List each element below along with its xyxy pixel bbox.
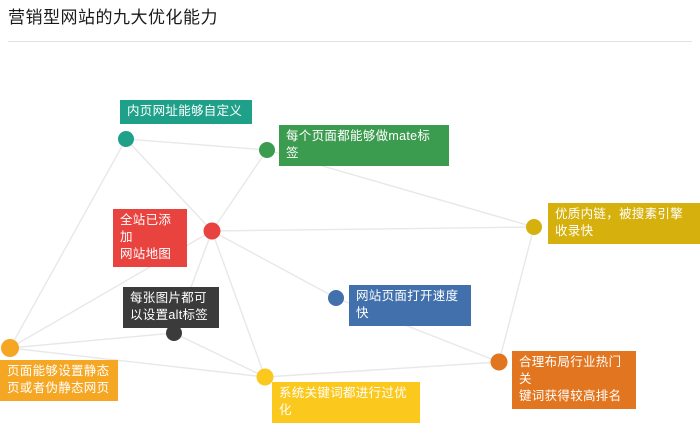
graph-edge <box>499 227 534 362</box>
graph-node-mate-tag[interactable] <box>259 142 275 158</box>
graph-node-sitemap[interactable] <box>204 223 221 240</box>
graph-edge <box>212 231 336 298</box>
title-divider <box>8 41 692 42</box>
graph-edge <box>265 362 499 377</box>
graph-node-label-alt-tag: 每张图片都可 以设置alt标签 <box>123 287 219 328</box>
graph-node-label-mate-tag: 每个页面都能够做mate标签 <box>279 125 449 166</box>
graph-edge <box>126 139 267 150</box>
page-title: 营销型网站的九大优化能力 <box>8 7 218 29</box>
graph-node-keyword-opt[interactable] <box>257 369 274 386</box>
graph-node-label-static-page: 页面能够设置静态 页或者伪静态网页 <box>0 360 118 401</box>
graph-edge <box>10 333 174 348</box>
graph-edge <box>212 150 267 231</box>
graph-edge <box>10 139 126 348</box>
graph-node-static-page[interactable] <box>1 339 19 357</box>
graph-node-label-inner-link: 优质内链，被搜素引擎收录快 <box>548 203 700 244</box>
graph-edge <box>212 227 534 231</box>
graph-node-label-keyword-opt: 系统关键词都进行过优化 <box>272 382 420 423</box>
graph-node-label-page-speed: 网站页面打开速度快 <box>349 285 471 326</box>
graph-node-page-speed[interactable] <box>328 290 344 306</box>
graph-node-inner-url[interactable] <box>118 131 134 147</box>
graph-node-inner-link[interactable] <box>526 219 542 235</box>
network-graph: 内页网址能够自定义每个页面都能够做mate标签全站已添加 网站地图优质内链，被搜… <box>0 48 700 447</box>
graph-node-label-inner-url: 内页网址能够自定义 <box>120 100 252 124</box>
graph-node-hot-keyword[interactable] <box>491 354 508 371</box>
graph-node-label-sitemap: 全站已添加 网站地图 <box>113 209 187 267</box>
graph-node-label-hot-keyword: 合理布局行业热门关 键词获得较高排名 <box>512 351 636 409</box>
